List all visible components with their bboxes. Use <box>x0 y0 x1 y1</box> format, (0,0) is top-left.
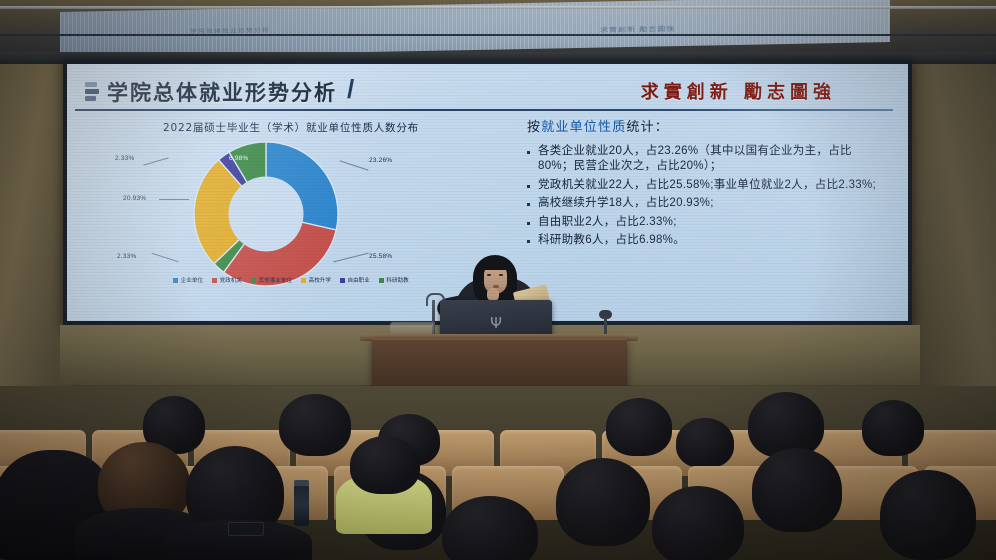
audience-head <box>752 448 842 532</box>
phone-on-desk <box>228 522 264 536</box>
leader-line-3 <box>159 199 189 200</box>
bullet-item: 高校继续升学18人，占比20.93%; <box>527 196 887 211</box>
audience-head <box>606 398 672 456</box>
statistics-panel: 按就业单位性质统计： 各类企业就业20人，占23.26%（其中以国有企业为主，占… <box>527 116 887 251</box>
water-bottle <box>294 484 309 526</box>
pct-label-shiye: 2.33% <box>117 253 136 260</box>
panel-heading: 按就业单位性质统计： <box>527 116 887 135</box>
water-bottle-cap <box>294 480 309 486</box>
donut-svg <box>191 139 341 289</box>
bullet-text: 自由职业2人，占比2.33%; <box>538 215 887 230</box>
legend-swatch-icon <box>340 278 345 283</box>
legend-label: 自由职业 <box>347 276 369 284</box>
bullet-item: 自由职业2人，占比2.33%; <box>527 215 887 230</box>
pct-label-dangzheng: 25.58% <box>369 253 392 260</box>
panel-heading-suffix: 统计： <box>626 120 669 135</box>
panel-heading-prefix: 按 <box>527 120 541 135</box>
bullet-dot-icon <box>527 222 530 225</box>
legend-label: 党政机关 <box>220 276 242 284</box>
laptop-logo-icon: Ψ <box>490 314 502 332</box>
bullet-list: 各类企业就业20人，占23.26%（其中以国有企业为主，占比80%；民营企业次之… <box>527 144 887 248</box>
bullet-text: 科研助教6人，占比6.98%。 <box>538 233 887 248</box>
legend-label: 科研助教 <box>386 276 408 284</box>
legend-swatch-icon <box>301 278 306 283</box>
calligraphy-motto: 求實創新 勵志圖強 <box>641 78 836 104</box>
legend-item: 高校升学 <box>301 276 331 284</box>
audience-head <box>279 394 351 456</box>
audience-head <box>862 400 924 456</box>
legend-swatch-icon <box>251 278 256 283</box>
bullet-text: 党政机关就业22人，占比25.58%;事业单位就业2人，占比2.33%; <box>538 178 887 193</box>
pct-label-shengxue: 20.93% <box>123 195 146 202</box>
speaker-eye-right <box>499 274 503 276</box>
bullet-dot-icon <box>527 203 530 206</box>
chart-block: 2022届硕士毕业生（学术）就业单位性质人数分布 23.26% 25.58% <box>81 120 501 315</box>
speaker-eye-left <box>487 274 491 276</box>
leader-line-1 <box>340 160 369 170</box>
title-slash-icon: / <box>347 74 354 105</box>
legend-item: 科研助教 <box>379 276 409 284</box>
bullet-item: 科研助教6人，占比6.98%。 <box>527 233 887 248</box>
leader-line-4 <box>143 157 168 165</box>
bullet-text: 各类企业就业20人，占23.26%（其中以国有企业为主，占比80%；民营企业次之… <box>538 144 887 175</box>
lecture-hall-photo: 学院总体就业形势分析 求實創新 勵志圖強 学院总体就业形势分析 / 求實創新 勵… <box>0 0 996 560</box>
title-marker-icon <box>85 82 99 101</box>
chart-title: 2022届硕士毕业生（学术）就业单位性质人数分布 <box>81 120 501 135</box>
legend-swatch-icon <box>379 278 384 283</box>
audience-head <box>676 418 734 468</box>
audience-head <box>880 470 976 560</box>
slide-title-row: 学院总体就业形势分析 / <box>85 76 354 107</box>
legend-item: 其他事业单位 <box>251 276 292 284</box>
bullet-item: 党政机关就业22人，占比25.58%;事业单位就业2人，占比2.33%; <box>527 178 887 193</box>
chart-legend: 企业单位党政机关其他事业单位高校升学自由职业科研助教 <box>81 276 501 284</box>
pct-label-qiye: 23.26% <box>369 157 392 164</box>
leader-line-5 <box>152 253 179 263</box>
bullet-dot-icon <box>527 240 530 243</box>
ceiling-rail-top <box>0 6 996 9</box>
ceiling-rail-mid <box>0 34 996 36</box>
bullet-dot-icon <box>527 151 530 154</box>
legend-swatch-icon <box>173 278 178 283</box>
donut-chart: 23.26% 25.58% 2.33% 20.93% 2.33% 6.98% <box>81 141 501 281</box>
bullet-dot-icon <box>527 185 530 188</box>
panel-heading-highlight: 就业单位性质 <box>541 120 626 135</box>
bullet-item: 各类企业就业20人，占23.26%（其中以国有企业为主，占比80%；民营企业次之… <box>527 144 887 175</box>
legend-item: 党政机关 <box>212 276 242 284</box>
bullet-text: 高校继续升学18人，占比20.93%; <box>538 196 887 211</box>
legend-item: 企业单位 <box>173 276 203 284</box>
legend-swatch-icon <box>212 278 217 283</box>
pct-label-keyan: 6.98% <box>229 155 248 162</box>
title-divider <box>75 109 893 111</box>
page-title: 学院总体就业形势分析 <box>107 77 337 107</box>
audience-head <box>556 458 650 546</box>
donut-hole <box>229 177 304 252</box>
legend-label: 其他事业单位 <box>259 276 293 284</box>
legend-item: 自由职业 <box>340 276 370 284</box>
speaker-fringe <box>481 258 511 270</box>
pct-label-ziyou: 2.33% <box>115 155 134 162</box>
legend-label: 企业单位 <box>181 276 203 284</box>
audience-head <box>350 436 420 494</box>
legend-label: 高校升学 <box>309 276 331 284</box>
audience-head <box>652 486 744 560</box>
